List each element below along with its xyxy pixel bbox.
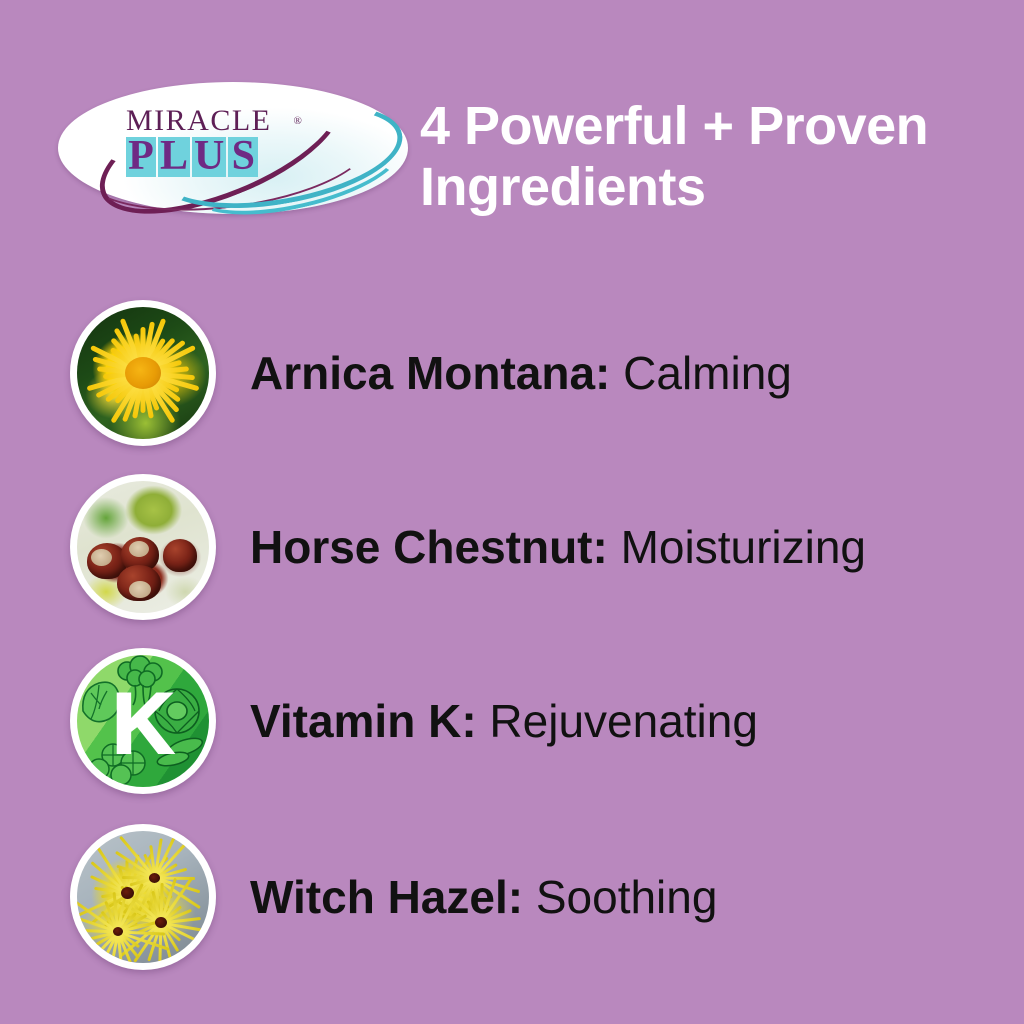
logo-plus-letter-p: P [126, 137, 156, 177]
ingredient-thumbnail: K [70, 648, 216, 794]
page-title-line-2: Ingredients [420, 157, 990, 218]
vitamin-k-vegetables-icon: K [77, 655, 209, 787]
vitamin-k-vegetable-artwork: K [77, 655, 209, 787]
page-title-line-1: 4 Powerful + Proven [420, 96, 990, 157]
horse-chestnut-icon [77, 481, 209, 613]
registered-trademark-icon: ® [294, 115, 302, 127]
ingredient-name: Vitamin K: [250, 695, 477, 747]
page-title: 4 Powerful + Proven Ingredients [420, 96, 990, 218]
ingredient-text: Vitamin K: Rejuvenating [250, 696, 758, 747]
ingredient-benefit: Soothing [536, 871, 718, 923]
chestnut-nut [163, 539, 197, 572]
witch-hazel-icon [77, 831, 209, 963]
logo-plus-letter-u: U [192, 137, 226, 177]
arnica-flower-icon [77, 307, 209, 439]
ingredient-thumbnail [70, 474, 216, 620]
ingredient-row: Horse Chestnut: Moisturizing [0, 472, 1024, 622]
ingredient-name: Horse Chestnut: [250, 521, 608, 573]
ingredient-text: Horse Chestnut: Moisturizing [250, 522, 866, 573]
ingredient-text: Arnica Montana: Calming [250, 348, 792, 399]
witch-hazel-center [149, 873, 160, 883]
ingredient-row: K Vitamin K: Rejuvenating [0, 646, 1024, 796]
logo-plus-letter-s: S [228, 137, 258, 177]
svg-text:K: K [112, 676, 174, 772]
chestnut-scar [91, 549, 112, 566]
witch-hazel-petal [158, 923, 162, 963]
ingredient-benefit: Rejuvenating [489, 695, 758, 747]
ingredient-name: Arnica Montana: [250, 347, 610, 399]
logo-top-word-row: MIRACLE® [126, 106, 356, 136]
ingredients-infographic: MIRACLE® P L U S 4 Powerful + Proven Ing… [0, 0, 1024, 1024]
logo-wordmark: MIRACLE® P L U S [126, 106, 356, 177]
ingredient-thumbnail [70, 300, 216, 446]
ingredient-thumbnail [70, 824, 216, 970]
ingredient-name: Witch Hazel: [250, 871, 523, 923]
ingredient-row: Witch Hazel: Soothing [0, 822, 1024, 972]
ingredient-text: Witch Hazel: Soothing [250, 872, 717, 923]
logo-miracle-text: MIRACLE [126, 106, 272, 136]
ingredient-row: Arnica Montana: Calming [0, 298, 1024, 448]
witch-hazel-center [113, 927, 123, 936]
brand-logo: MIRACLE® P L U S [58, 82, 408, 214]
witch-hazel-center [155, 917, 167, 928]
chestnut-scar [129, 541, 149, 557]
chestnut-scar [129, 581, 151, 598]
witch-hazel-center [121, 887, 134, 899]
logo-plus-letter-l: L [158, 137, 190, 177]
logo-plus-tiles: P L U S [126, 137, 356, 177]
arnica-flower-center [125, 357, 161, 389]
ingredient-benefit: Moisturizing [621, 521, 866, 573]
ingredient-benefit: Calming [623, 347, 792, 399]
